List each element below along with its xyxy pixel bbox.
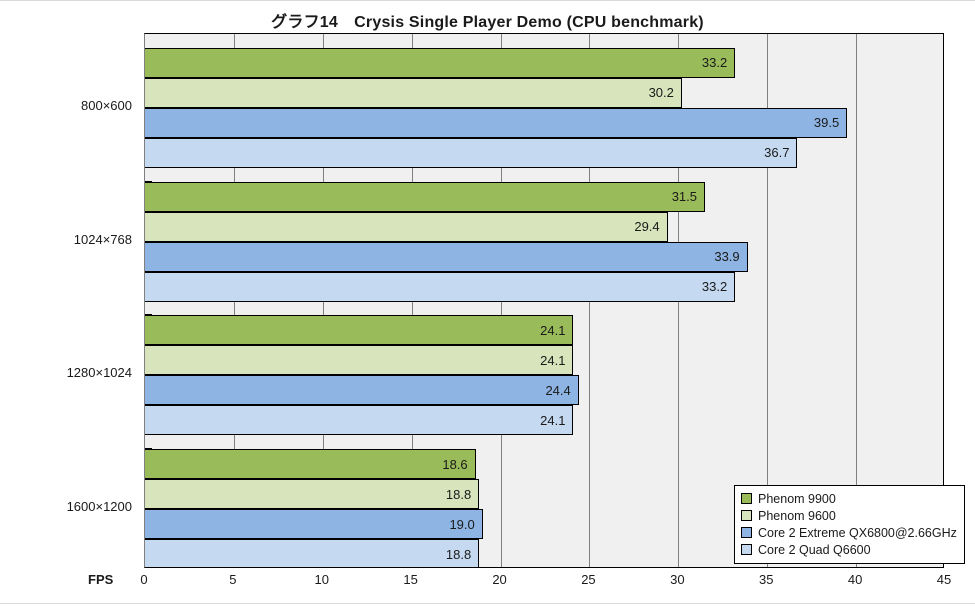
x-axis-tick-label: 35	[746, 572, 786, 587]
bar[interactable]: 24.1	[144, 345, 573, 375]
bar-row: 24.1	[145, 405, 943, 435]
bar[interactable]: 29.4	[144, 212, 668, 242]
bar[interactable]: 33.9	[144, 242, 748, 272]
category-label: 800×600	[0, 98, 132, 113]
bar[interactable]: 18.6	[144, 449, 476, 479]
bar[interactable]: 18.8	[144, 539, 479, 568]
x-axis-tick-label: 10	[302, 572, 342, 587]
bar-value-label: 33.9	[714, 249, 746, 264]
x-axis-tick-label: 20	[480, 572, 520, 587]
legend-swatch	[741, 527, 752, 538]
bar[interactable]: 33.2	[144, 48, 735, 78]
bar[interactable]: 33.2	[144, 272, 735, 302]
chart-container: グラフ14 Crysis Single Player Demo (CPU ben…	[0, 0, 975, 607]
bar-row: 18.6	[145, 449, 943, 479]
legend-item[interactable]: Phenom 9600	[741, 507, 957, 524]
bar-value-label: 30.2	[649, 85, 681, 100]
legend-item[interactable]: Core 2 Quad Q6600	[741, 541, 957, 558]
x-axis-tick-label: 45	[924, 572, 964, 587]
bar-row: 24.1	[145, 315, 943, 345]
bar[interactable]: 19.0	[144, 509, 483, 539]
bar[interactable]: 39.5	[144, 108, 847, 138]
bar[interactable]: 36.7	[144, 138, 797, 168]
top-rule	[0, 0, 975, 1]
bar-row: 39.5	[145, 108, 943, 138]
bar[interactable]: 31.5	[144, 182, 705, 212]
x-axis-tick-label: 15	[391, 572, 431, 587]
bar-row: 36.7	[145, 138, 943, 168]
bar-value-label: 18.6	[442, 457, 474, 472]
bar-value-label: 18.8	[446, 487, 478, 502]
bar-value-label: 18.8	[446, 547, 478, 562]
bar-row: 24.4	[145, 375, 943, 405]
legend-item[interactable]: Core 2 Extreme QX6800@2.66GHz	[741, 524, 957, 541]
x-axis-tick-label: 25	[568, 572, 608, 587]
bar-value-label: 24.4	[545, 383, 577, 398]
category-label: 1280×1024	[0, 365, 132, 380]
bar-value-label: 39.5	[814, 115, 846, 130]
bar-row: 29.4	[145, 212, 943, 242]
value-axis-ticks: 051015202530354045	[144, 570, 944, 592]
bar[interactable]: 18.8	[144, 479, 479, 509]
legend-label: Core 2 Extreme QX6800@2.66GHz	[758, 526, 957, 540]
legend-label: Phenom 9600	[758, 509, 836, 523]
legend-swatch	[741, 544, 752, 555]
bar-value-label: 36.7	[764, 145, 796, 160]
bar-value-label: 24.1	[540, 413, 572, 428]
bottom-rule	[0, 603, 975, 604]
bar-row: 24.1	[145, 345, 943, 375]
x-axis-tick-label: 40	[835, 572, 875, 587]
bar[interactable]: 24.1	[144, 315, 573, 345]
legend-label: Phenom 9900	[758, 492, 836, 506]
bar-value-label: 31.5	[672, 189, 704, 204]
chart-legend: Phenom 9900Phenom 9600Core 2 Extreme QX6…	[734, 485, 965, 564]
legend-swatch	[741, 493, 752, 504]
bar-value-label: 33.2	[702, 55, 734, 70]
bar-value-label: 33.2	[702, 279, 734, 294]
bar[interactable]: 24.1	[144, 405, 573, 435]
legend-label: Core 2 Quad Q6600	[758, 543, 871, 557]
legend-item[interactable]: Phenom 9900	[741, 490, 957, 507]
x-axis-tick-label: 5	[213, 572, 253, 587]
category-axis-labels: 800×6001024×7681280×10241600×1200	[0, 33, 138, 568]
bar-value-label: 29.4	[634, 219, 666, 234]
bar-row: 33.2	[145, 272, 943, 302]
category-label: 1024×768	[0, 232, 132, 247]
bar-row: 31.5	[145, 182, 943, 212]
x-axis-tick-label: 30	[657, 572, 697, 587]
bar-value-label: 24.1	[540, 353, 572, 368]
axis-unit-label: FPS	[88, 572, 113, 587]
x-axis-tick-label: 0	[124, 572, 164, 587]
bar-row: 33.2	[145, 48, 943, 78]
bar[interactable]: 30.2	[144, 78, 682, 108]
bar[interactable]: 24.4	[144, 375, 579, 405]
bar-row: 30.2	[145, 78, 943, 108]
chart-title: グラフ14 Crysis Single Player Demo (CPU ben…	[0, 8, 975, 32]
bar-value-label: 19.0	[449, 517, 481, 532]
category-label: 1600×1200	[0, 499, 132, 514]
bar-value-label: 24.1	[540, 323, 572, 338]
bar-row: 33.9	[145, 242, 943, 272]
legend-swatch	[741, 510, 752, 521]
